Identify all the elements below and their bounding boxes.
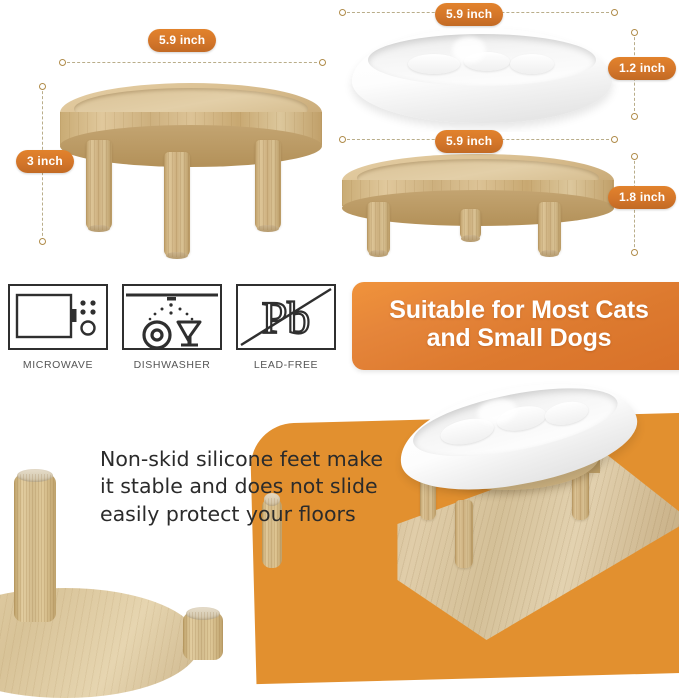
feature-line-3: easily protect your floors: [100, 502, 356, 526]
silicone-foot: [540, 250, 560, 257]
ceramic-slow-feeder-bowl: [352, 28, 612, 123]
guide-node: [39, 238, 46, 245]
guide-node: [611, 136, 618, 143]
stand-leg-left: [86, 140, 112, 230]
certification-label: MICROWAVE: [23, 359, 93, 371]
feature-description: Non-skid silicone feet make it stable an…: [100, 446, 392, 528]
stand-leg-right: [255, 140, 281, 230]
guide-node: [631, 153, 638, 160]
microwave-icon: [8, 284, 108, 350]
banner-line-1: Suitable for Most Cats: [389, 296, 649, 324]
silicone-foot: [166, 252, 188, 259]
closeup-leg-short: [183, 612, 223, 660]
silicone-foot: [88, 225, 110, 232]
bowl-highlight: [452, 37, 486, 63]
dishwasher-icon: [122, 284, 222, 350]
silicone-foot: [461, 235, 479, 242]
measurement-badge-height-bowl: 1.2 inch: [608, 57, 676, 80]
stand-leg-center: [164, 152, 190, 257]
measurement-badge-height-short-stand: 1.8 inch: [608, 186, 676, 209]
panel-tall-stand: 5.9 inch 3 inch: [0, 0, 340, 272]
feature-line-2: it stable and does not slide: [100, 474, 378, 498]
width-guide-line-tall-stand: [62, 62, 322, 63]
bowl-feeder-ridge: [510, 54, 554, 74]
hero-stand-leg-front: [455, 500, 473, 568]
certification-icon-row: MICROWAVE DISHWASHER: [8, 284, 338, 380]
certification-label: LEAD-FREE: [254, 359, 318, 371]
microwave-icon-glyph: [10, 286, 106, 348]
guide-node: [59, 59, 66, 66]
certification-lead-free: Pb LEAD-FREE: [236, 284, 336, 380]
guide-node: [631, 249, 638, 256]
measurement-badge-width-bowl: 5.9 inch: [435, 3, 503, 26]
guide-node: [339, 9, 346, 16]
stand-leg-center: [460, 209, 481, 240]
measurement-badge-width-short-stand: 5.9 inch: [435, 130, 503, 153]
feature-line-1: Non-skid silicone feet make: [100, 447, 383, 471]
certification-microwave: MICROWAVE: [8, 284, 108, 380]
measurement-badge-width-tall-stand: 5.9 inch: [148, 29, 216, 52]
guide-node: [631, 113, 638, 120]
guide-node: [611, 9, 618, 16]
guide-node: [319, 59, 326, 66]
stand-leg-right: [538, 202, 561, 255]
banner-line-2: and Small Dogs: [427, 324, 612, 352]
stand-leg-left: [367, 202, 390, 255]
silicone-foot-pad: [186, 607, 220, 620]
silicone-foot-pad: [17, 469, 52, 482]
certification-dishwasher: DISHWASHER: [122, 284, 222, 380]
guide-node: [339, 136, 346, 143]
guide-node: [39, 83, 46, 90]
certification-label: DISHWASHER: [134, 359, 211, 371]
guide-node: [631, 29, 638, 36]
silicone-foot: [369, 250, 389, 257]
lead-free-icon-glyph: Pb: [238, 286, 334, 348]
measurement-badge-height-tall-stand: 3 inch: [16, 150, 74, 173]
closeup-leg-tall: [14, 474, 56, 622]
suitability-banner: Suitable for Most Cats and Small Dogs: [352, 282, 679, 370]
dishwasher-icon-glyph: [124, 286, 220, 348]
bowl-feeder-ridge: [408, 54, 460, 74]
lead-free-icon: Pb: [236, 284, 336, 350]
banner-text: Suitable for Most Cats and Small Dogs: [381, 296, 663, 356]
silicone-foot: [257, 225, 279, 232]
